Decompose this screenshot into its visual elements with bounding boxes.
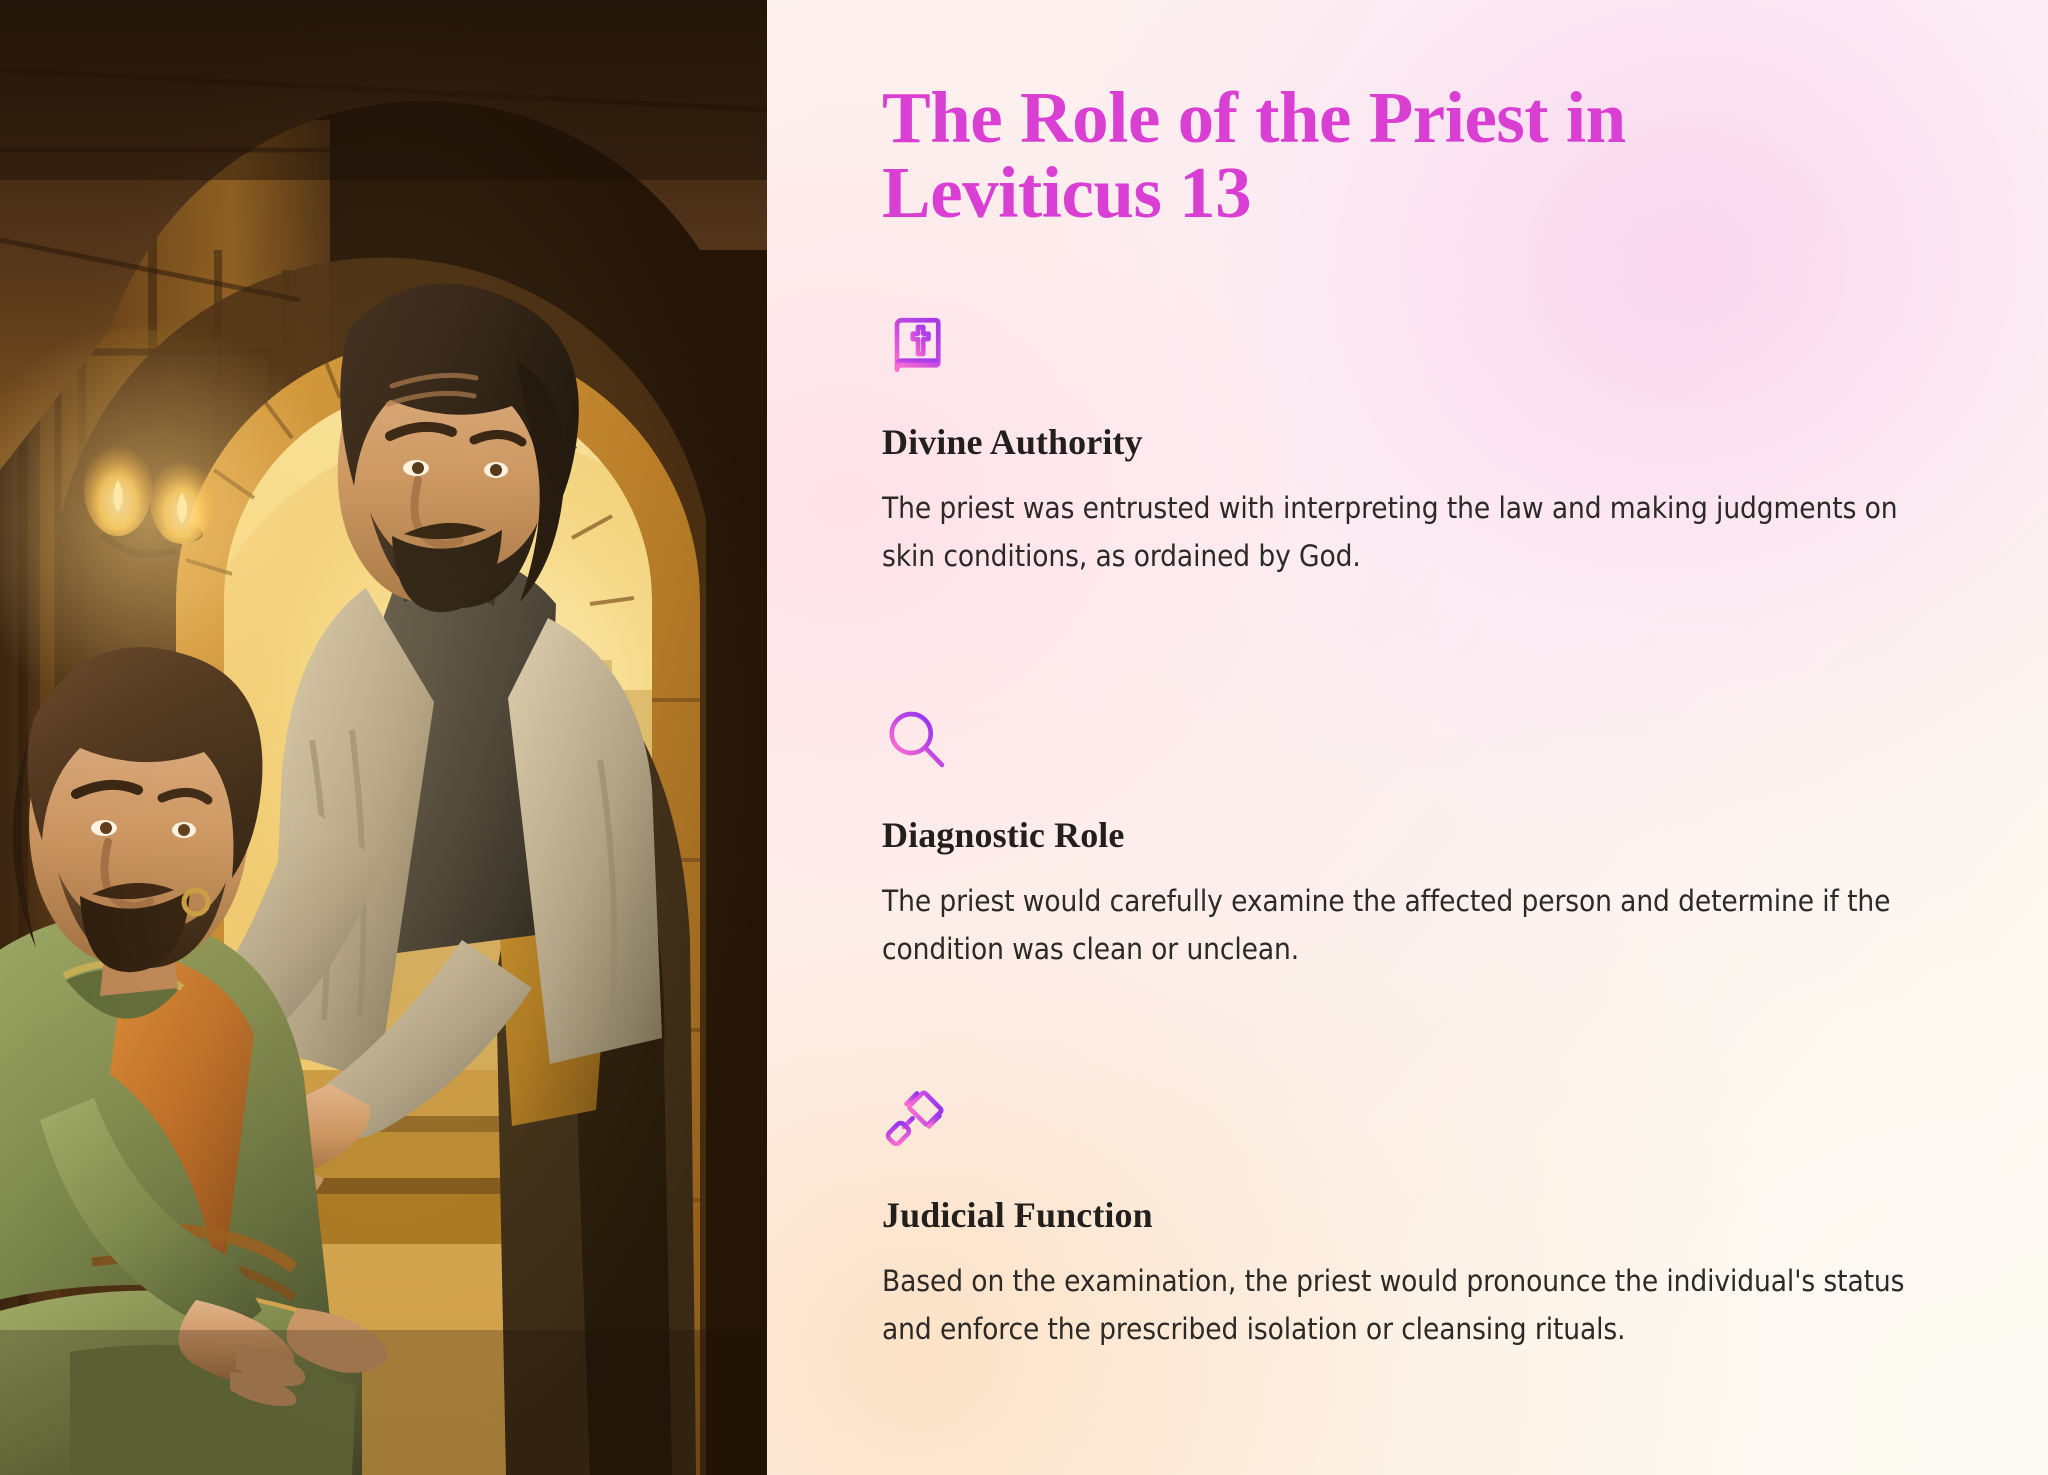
feature-block-diagnostic-role: Diagnostic Role The priest would careful…	[882, 705, 1972, 974]
feature-block-divine-authority: Divine Authority The priest was entruste…	[882, 312, 1972, 581]
feature-heading: Judicial Function	[882, 1195, 1972, 1236]
feature-heading: Diagnostic Role	[882, 815, 1972, 856]
feature-block-judicial-function: Judicial Function Based on the examinati…	[882, 1085, 1972, 1354]
illustration-artwork	[0, 0, 767, 1475]
slide-root: The Role of the Priest in Leviticus 13	[0, 0, 2048, 1475]
priest-examining-man-illustration	[0, 0, 767, 1475]
magnifying-glass-icon	[882, 705, 954, 777]
content-panel: The Role of the Priest in Leviticus 13	[767, 0, 2048, 1475]
page-title: The Role of the Priest in Leviticus 13	[882, 80, 1882, 230]
feature-heading: Divine Authority	[882, 422, 1972, 463]
feature-body: The priest would carefully examine the a…	[882, 878, 1957, 974]
bible-book-cross-icon	[882, 312, 954, 384]
gavel-icon	[882, 1085, 954, 1157]
feature-body: Based on the examination, the priest wou…	[882, 1258, 1957, 1354]
feature-body: The priest was entrusted with interpreti…	[882, 485, 1957, 581]
